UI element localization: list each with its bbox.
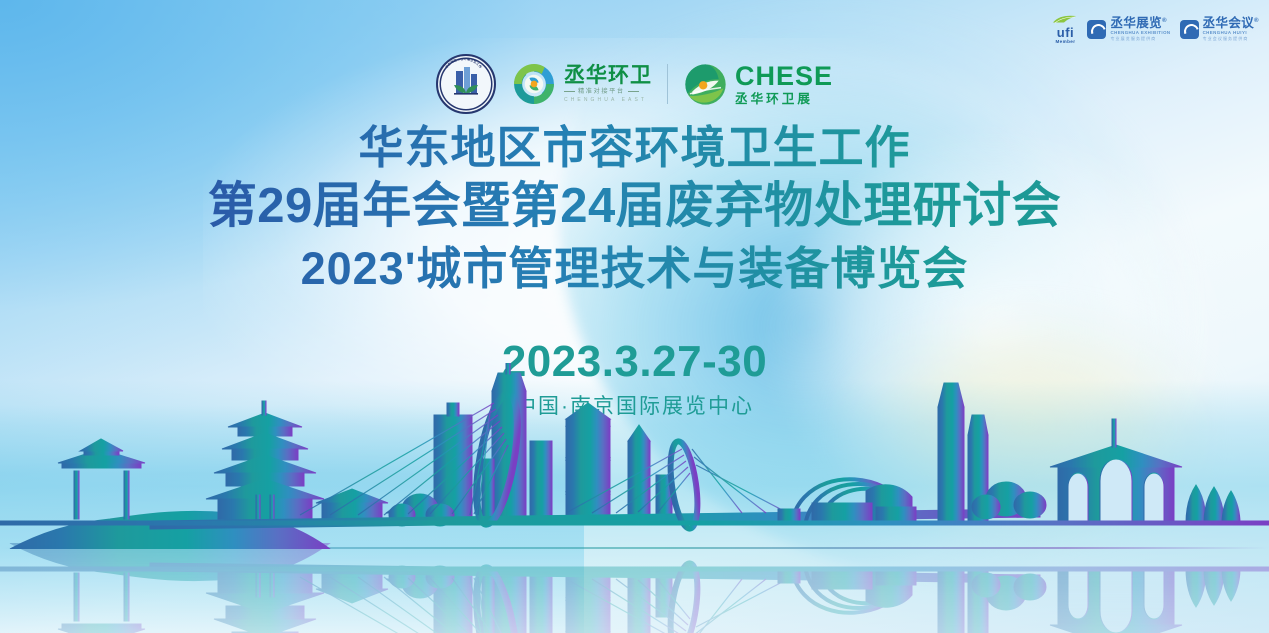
chenghua-exhibition-cn-sub: 专业展览服务提供商 xyxy=(1110,37,1170,41)
headline-line-2: 第29届年会暨第24届废弃物处理研讨会 xyxy=(0,178,1269,235)
chese-cn: 丞华环卫展 xyxy=(735,93,833,106)
chenghua-conference-cn: 丞华会议® xyxy=(1203,17,1259,30)
swirl-icon xyxy=(1087,20,1106,39)
chese-leaf-icon xyxy=(683,62,728,107)
rule-right xyxy=(628,91,639,92)
chenghua-huanwei-cn: 丞华环卫 xyxy=(564,65,652,86)
ufi-logo: ufi Member xyxy=(1052,14,1078,45)
seal-building-icon xyxy=(445,63,487,105)
headline-line-3: 2023'城市管理技术与装备博览会 xyxy=(0,243,1269,295)
swirl-icon xyxy=(1180,20,1199,39)
skyline-reflection xyxy=(0,543,1269,633)
ufi-subtitle: Member xyxy=(1055,40,1075,45)
chese-logo: CHESE 丞华环卫展 xyxy=(683,62,833,107)
chese-en: CHESE xyxy=(735,63,833,90)
chenghua-conference-cn-sub: 专业会议服务提供商 xyxy=(1203,37,1259,41)
header-logo-row: 华东地区市容环境卫生工作 xyxy=(0,54,1269,114)
chenghua-huanwei-subtitle: 精准对接平台 xyxy=(564,89,652,95)
logo-divider xyxy=(667,64,668,104)
chenghua-conference-logo: 丞华会议® CHENGHUA HUIYI 专业会议服务提供商 xyxy=(1180,17,1259,41)
rule-left xyxy=(564,91,575,92)
event-headline: 华东地区市容环境卫生工作 第29届年会暨第24届废弃物处理研讨会 2023'城市… xyxy=(0,122,1269,295)
chenghua-exhibition-cn: 丞华展览® xyxy=(1110,17,1170,30)
headline-line-1: 华东地区市容环境卫生工作 xyxy=(0,122,1269,174)
skyline-illustration xyxy=(0,363,1269,633)
seal-emblem xyxy=(445,63,487,105)
association-seal-logo: 华东地区市容环境卫生工作 xyxy=(436,54,496,114)
ufi-wing-icon xyxy=(1052,14,1078,25)
chenghua-exhibition-logo: 丞华展览® CHENGHUA EXHIBITION 专业展览服务提供商 xyxy=(1087,17,1170,41)
chenghua-huanwei-logo: 丞华环卫 精准对接平台 CHENGHUA EAST xyxy=(511,61,652,107)
poster-canvas: ufi Member 丞华展览® CHENGHUA EXHIBITION 专业展… xyxy=(0,0,1269,633)
chenghua-huanwei-subtitle-text: 精准对接平台 xyxy=(578,89,625,95)
skyline-silhouette xyxy=(0,363,1269,549)
chenghua-huanwei-en: CHENGHUA EAST xyxy=(564,98,652,103)
recycle-circle-icon xyxy=(511,61,557,107)
ufi-name: ufi xyxy=(1057,26,1074,39)
top-right-logo-strip: ufi Member 丞华展览® CHENGHUA EXHIBITION 专业展… xyxy=(1052,14,1259,45)
